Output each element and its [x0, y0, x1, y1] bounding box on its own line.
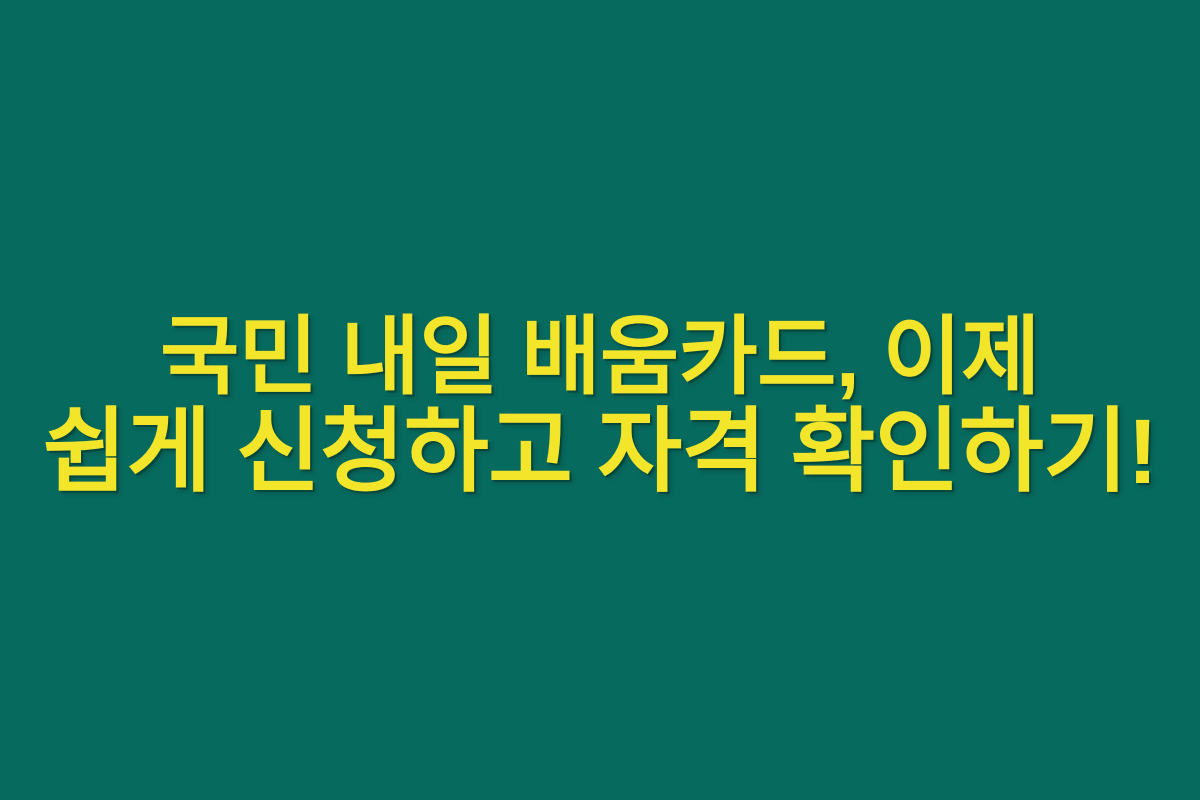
headline-line-2: 쉽게 신청하고 자격 확인하기! — [24, 405, 1176, 500]
headline-block: 국민 내일 배움카드, 이제 쉽게 신청하고 자격 확인하기! — [0, 310, 1200, 500]
promo-banner: 국민 내일 배움카드, 이제 쉽게 신청하고 자격 확인하기! — [0, 0, 1200, 800]
headline-line-1: 국민 내일 배움카드, 이제 — [24, 310, 1176, 405]
